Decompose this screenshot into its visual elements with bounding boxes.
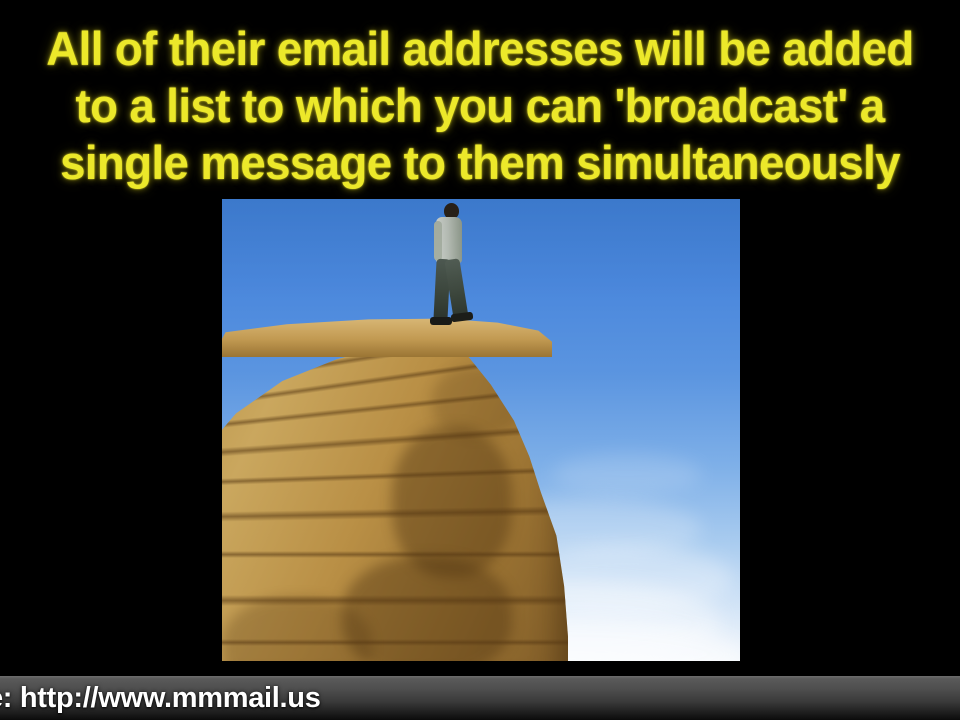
cliff-photo	[222, 199, 740, 661]
person-figure	[418, 203, 482, 331]
rock-strata-line	[222, 639, 568, 646]
website-url-text: site: http://www.mmmail.us	[0, 680, 321, 716]
caption-line-3: single message to them simultaneously	[14, 134, 945, 191]
person-foot-left	[430, 317, 452, 325]
rock-strata-line	[222, 424, 568, 460]
person-foot-right	[451, 312, 474, 323]
cloud	[552, 454, 702, 494]
bottom-url-bar: site: http://www.mmmail.us	[0, 676, 960, 720]
caption-line-1: All of their email addresses will be add…	[14, 20, 945, 77]
caption-line-2: to a list to which you can 'broadcast' a	[14, 77, 945, 134]
caption-block: All of their email addresses will be add…	[0, 20, 960, 200]
rock-strata-line	[222, 551, 568, 558]
video-frame: All of their email addresses will be add…	[0, 0, 960, 720]
person-leg-right	[444, 258, 468, 320]
rock-strata-line	[222, 595, 568, 606]
person-arm	[434, 221, 442, 261]
